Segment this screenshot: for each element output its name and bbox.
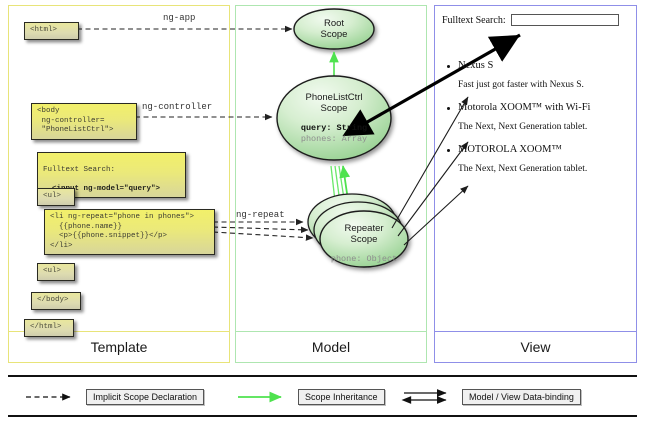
label-ng-repeat: ng-repeat: [236, 210, 285, 220]
green-arrow-icon: [236, 388, 292, 406]
template-block-body-close: </body>: [31, 292, 81, 310]
template-block-body-open: <body ng-controller= "PhoneListCtrl">: [31, 103, 137, 140]
template-block-ul-close: <ul>: [37, 263, 75, 281]
legend-label-scope-inheritance: Scope Inheritance: [298, 389, 385, 405]
template-block-html-close: </html>: [24, 319, 74, 337]
dashed-arrow-icon: [24, 388, 80, 406]
view-item-snippet: The Next, Next Generation tablet.: [442, 162, 632, 176]
view-item-snippet: The Next, Next Generation tablet.: [442, 120, 632, 134]
view-search-label: Fulltext Search:: [442, 15, 506, 26]
column-view-label: View: [435, 331, 636, 362]
view-rendered-page: Fulltext Search: Nexus S Fast just got f…: [442, 14, 632, 185]
view-item-name: Motorola XOOM™ with Wi-Fi: [442, 101, 632, 115]
template-block-li-repeat: <li ng-repeat="phone in phones"> {{phone…: [44, 209, 215, 255]
label-ng-controller: ng-controller: [142, 102, 212, 112]
diagram-canvas: Template Model View: [0, 0, 645, 425]
legend-item-implicit-scope-declaration: Implicit Scope Declaration: [24, 388, 204, 406]
view-phone-list: Nexus S Fast just got faster with Nexus …: [442, 59, 632, 176]
template-block-ul-open: <ul>: [37, 188, 75, 206]
legend-label-model-view-data-binding: Model / View Data-binding: [462, 389, 581, 405]
view-item-snippet: Fast just got faster with Nexus S.: [442, 78, 632, 92]
double-arrow-icon: [400, 388, 456, 406]
template-search-label: Fulltext Search:: [43, 166, 115, 174]
search-input[interactable]: [511, 14, 619, 26]
label-ng-app: ng-app: [163, 13, 195, 23]
legend-item-model-view-data-binding: Model / View Data-binding: [400, 388, 581, 406]
column-model: Model: [235, 5, 427, 363]
legend: Implicit Scope Declaration Scope Inherit…: [8, 375, 637, 417]
list-item[interactable]: Nexus S Fast just got faster with Nexus …: [442, 59, 632, 92]
legend-item-scope-inheritance: Scope Inheritance: [236, 388, 385, 406]
list-item[interactable]: MOTOROLA XOOM™ The Next, Next Generation…: [442, 143, 632, 176]
template-block-html-open: <html>: [24, 22, 79, 40]
view-search-row: Fulltext Search:: [442, 14, 632, 26]
list-item[interactable]: Motorola XOOM™ with Wi-Fi The Next, Next…: [442, 101, 632, 134]
legend-label-implicit-scope-declaration: Implicit Scope Declaration: [86, 389, 204, 405]
column-model-label: Model: [236, 331, 426, 362]
view-item-name: Nexus S: [442, 59, 632, 73]
view-item-name: MOTOROLA XOOM™: [442, 143, 632, 157]
